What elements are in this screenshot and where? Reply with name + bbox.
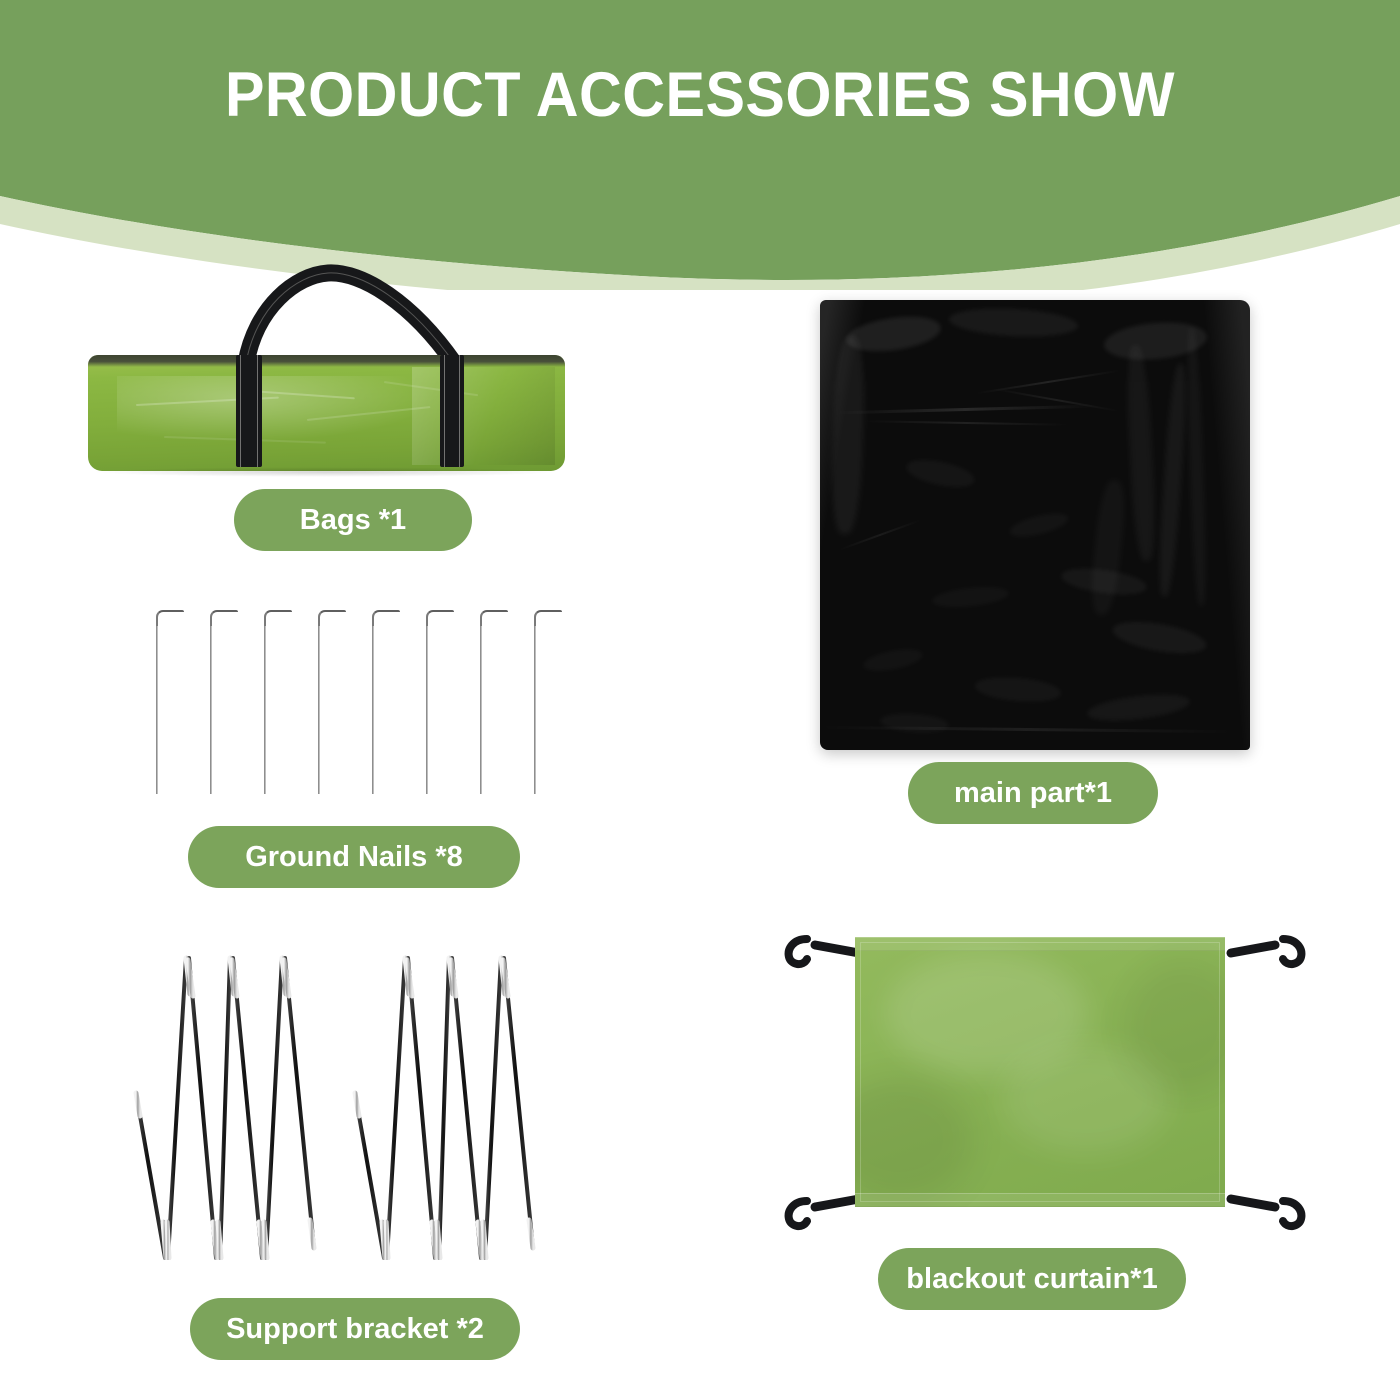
bag-side-shade: [412, 367, 555, 466]
folded-pole-assemblies: [110, 930, 580, 1260]
curtain-bottom-hem: [855, 1193, 1225, 1207]
item-blackout-curtain-image: [775, 915, 1315, 1235]
hook-icon: [789, 1201, 807, 1226]
header-curve-shape: [0, 0, 1400, 290]
ground-nail: [480, 610, 506, 795]
bag-strap-right: [440, 355, 464, 467]
label-main-part: main part*1: [908, 762, 1158, 824]
hook-icon: [789, 939, 807, 964]
hook-icon: [1283, 1201, 1301, 1226]
page-title: PRODUCT ACCESSORIES SHOW: [42, 62, 1358, 128]
label-blackout-curtain: blackout curtain*1: [878, 1248, 1186, 1310]
hook-icon: [1283, 939, 1301, 964]
label-support-bracket: Support bracket *2: [190, 1298, 520, 1360]
ground-nail: [372, 610, 398, 795]
curtain-fabric-panel: [855, 937, 1225, 1207]
bag-body: [88, 355, 565, 471]
label-bags: Bags *1: [234, 489, 472, 551]
item-ground-nails-image: [140, 610, 560, 800]
bag-drop-shadow: [90, 467, 560, 477]
ground-nail: [318, 610, 344, 795]
header-banner: PRODUCT ACCESSORIES SHOW: [0, 0, 1400, 290]
item-main-part-image: [820, 300, 1250, 750]
ground-nail: [426, 610, 452, 795]
label-ground-nails: Ground Nails *8: [188, 826, 520, 888]
ground-nail: [264, 610, 290, 795]
item-support-bracket-image: [110, 930, 580, 1260]
ground-nail: [534, 610, 560, 795]
bag-strap-left: [236, 355, 262, 467]
ground-nail: [210, 610, 236, 795]
black-tarp-body: [820, 300, 1250, 750]
item-bags-image: [60, 255, 590, 485]
infographic-page: PRODUCT ACCESSORIES SHOW Bags *1: [0, 0, 1400, 1400]
ground-nail: [156, 610, 182, 795]
curtain-top-hem: [855, 937, 1225, 951]
